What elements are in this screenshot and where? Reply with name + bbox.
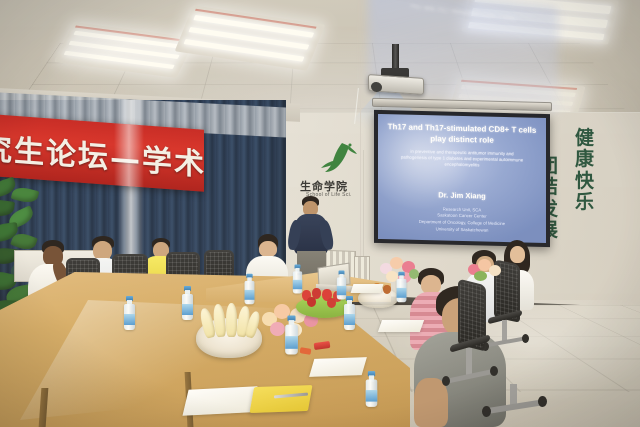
paper-sheet [351,284,384,293]
water-bottle [344,296,355,330]
projector-lens [371,82,382,93]
water-bottle [182,286,193,320]
water-bottle [124,296,135,330]
seminar-room-photo: 究生论坛—学术沙龙 生命学院 School of Life Sci. 健康快乐 … [0,0,640,427]
slide-presenter-name: Dr. Jim Xiang [438,190,486,200]
wall-cable [360,90,361,260]
attendee-4-head [259,241,277,257]
crane-bird-icon [320,142,358,176]
paper-sheet [378,320,424,332]
water-bottle [293,265,302,294]
slide-affiliation-line4: University of Saskatchewan [436,226,489,234]
water-bottle [285,315,298,354]
attendee-8-arm [414,378,448,427]
water-bottle [397,272,407,303]
projection-screen: Th17 and Th17-stimulated CD8+ T cells pl… [374,110,550,247]
paper-sheet [182,386,257,416]
flower-arrangement [468,258,502,282]
school-logo: 生命学院 School of Life Sci. [300,142,372,204]
water-bottle [366,371,378,407]
notebook [249,385,312,413]
fruit-basket-melon [196,318,262,358]
wall-cable-secondary [363,150,364,260]
attendee-5-head [510,246,525,263]
water-bottle [245,274,255,305]
presentation-slide: Th17 and Th17-stimulated CD8+ T cells pl… [378,114,546,243]
paper-sheet [309,357,367,377]
wall-slogan-health-happiness: 健康快乐 [572,128,598,213]
banner-glare [114,114,144,192]
event-banner-text: 究生论坛—学术沙龙 [0,123,204,184]
